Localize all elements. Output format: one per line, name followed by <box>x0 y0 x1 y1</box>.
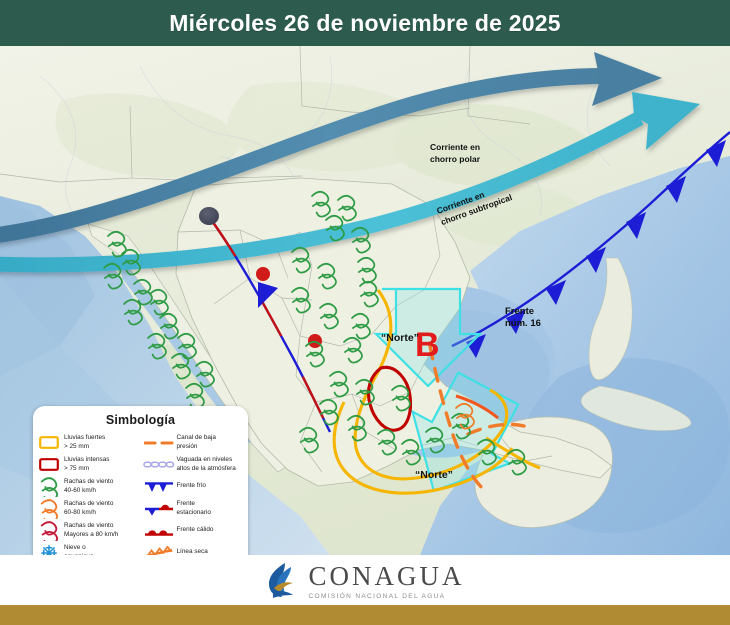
legend-item-rain-intense: Lluvias intensas > 75 mm <box>33 454 141 475</box>
front-16-label-line1: Frente <box>505 306 534 317</box>
legend-label: Lluvias fuertes > 25 mm <box>64 434 105 450</box>
legend-panel: Simbología Lluvias fuertes > 25 mm <box>33 406 248 555</box>
front-barb-warm-1 <box>256 267 270 281</box>
low-pressure-channel-icon <box>141 439 177 447</box>
rain-strong-box-icon <box>33 436 64 449</box>
polar-jet-label-line2: chorro polar <box>430 154 481 164</box>
legend-label: Canal de baja presión <box>177 434 216 450</box>
weather-map: Corriente en chorro polar Corriente en c… <box>0 46 730 555</box>
conagua-subtitle: COMISIÓN NACIONAL DEL AGUA <box>309 593 465 600</box>
warm-front-icon <box>141 525 177 537</box>
legend-item-stationary-front: Frente estacionario <box>141 498 249 519</box>
conagua-logo-mark <box>266 561 300 601</box>
stationary-front-icon <box>141 502 177 516</box>
legend-item-warm-front: Frente cálido <box>141 520 249 541</box>
wind-swirl-orange-icon <box>33 499 64 519</box>
norte-label-north: “Norte” <box>381 332 419 344</box>
upper-level-trough-icon <box>141 460 177 469</box>
legend-label: Rachas de viento 40-60 km/h <box>64 478 113 494</box>
wind-swirl-green-icon <box>33 477 64 497</box>
conagua-logo-text: CONAGUA COMISIÓN NACIONAL DEL AGUA <box>309 563 465 600</box>
title-bar: Miércoles 26 de noviembre de 2025 <box>0 0 730 46</box>
dry-line-icon <box>141 546 177 556</box>
legend-label: Rachas de viento Mayores a 80 km/h <box>64 522 118 538</box>
snow-sleet-icon <box>33 544 64 556</box>
legend-item-dry-line: Línea seca <box>141 542 249 555</box>
legend-item-snow: Nieve o aguanieve <box>33 542 141 555</box>
legend-title: Simbología <box>33 406 248 427</box>
legend-label: Nieve o aguanieve <box>64 544 94 555</box>
low-center-node <box>199 207 219 225</box>
legend-label: Frente frío <box>177 482 206 490</box>
legend-label: Línea seca <box>177 548 208 555</box>
weather-map-page: Miércoles 26 de noviembre de 2025 <box>0 0 730 625</box>
legend-label: Frente estacionario <box>177 500 211 516</box>
wind-swirl-red-icon <box>33 521 64 541</box>
legend-item-wind-80-plus: Rachas de viento Mayores a 80 km/h <box>33 520 141 541</box>
rain-intense-box-icon <box>33 458 64 471</box>
page-title: Miércoles 26 de noviembre de 2025 <box>169 10 560 37</box>
legend-item-wind-60-80: Rachas de viento 60-80 km/h <box>33 498 141 519</box>
conagua-logo: CONAGUA COMISIÓN NACIONAL DEL AGUA <box>0 555 730 607</box>
legend-item-upper-trough: Vaguada en niveles altos de la atmósfera <box>141 454 249 475</box>
legend-column-left: Lluvias fuertes > 25 mm Lluvias intensas… <box>33 432 141 555</box>
footer-gold-bar <box>0 605 730 625</box>
legend-column-right: Canal de baja presión Vaguada en niveles… <box>141 432 249 555</box>
conagua-name: CONAGUA <box>309 563 465 590</box>
legend-label: Vaguada en niveles altos de la atmósfera <box>177 456 236 472</box>
legend-item-low-pressure-channel: Canal de baja presión <box>141 432 249 453</box>
polar-jet-label-line1: Corriente en <box>430 142 480 152</box>
legend-item-wind-40-60: Rachas de viento 40-60 km/h <box>33 476 141 497</box>
legend-label: Frente cálido <box>177 526 214 534</box>
legend-label: Lluvias intensas > 75 mm <box>64 456 109 472</box>
legend-label: Rachas de viento 60-80 km/h <box>64 500 113 516</box>
front-16-label-line2: núm. 16 <box>505 318 541 329</box>
cold-front-icon <box>141 481 177 493</box>
norte-label-south: “Norte” <box>415 469 453 481</box>
legend-item-cold-front: Frente frío <box>141 476 249 497</box>
legend-item-rain-strong: Lluvias fuertes > 25 mm <box>33 432 141 453</box>
